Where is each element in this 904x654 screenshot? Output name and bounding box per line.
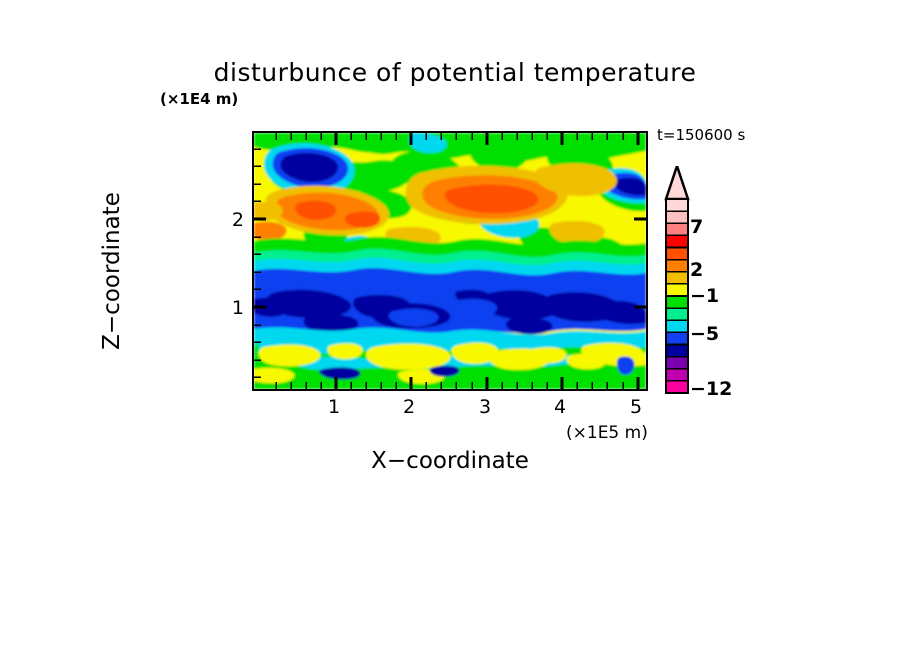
xtick-label-5: 5	[623, 396, 649, 418]
colorbar-band-red	[666, 235, 688, 247]
colorbar-band-dark-orange	[666, 248, 688, 260]
colorbar-band-magenta-purple	[666, 369, 688, 381]
ytick-label-1: 1	[218, 297, 244, 319]
colorbar-band-salmon	[666, 223, 688, 235]
colorbar-band-pale-pink	[666, 199, 688, 211]
xtick-label-2: 2	[396, 396, 422, 418]
page-title: disturbunce of potential temperature	[170, 58, 740, 87]
colorbar-band-yellow	[666, 284, 688, 296]
colorbar-band-blue	[666, 332, 688, 344]
colorbar-band-spring-green	[666, 308, 688, 320]
figure-canvas: disturbunce of potential temperature (×1…	[0, 0, 904, 654]
colorbar-band-cyan	[666, 320, 688, 332]
y-axis-unit-label: (×1E4 m)	[160, 90, 238, 108]
x-axis-unit-label: (×1E5 m)	[566, 423, 648, 443]
colorbar-band-navy	[666, 345, 688, 357]
ytick-label-2: 2	[218, 209, 244, 231]
colorbar-label-m1: −1	[690, 285, 719, 307]
colorbar-band-purple	[666, 357, 688, 369]
colorbar-label-2: 2	[690, 259, 703, 281]
time-annotation: t=150600 s	[657, 126, 745, 144]
colorbar-band-light-pink	[666, 211, 688, 223]
xtick-label-1: 1	[321, 396, 347, 418]
colorbar-label-m5: −5	[690, 323, 719, 345]
y-axis-title: Z−coordinate	[99, 141, 125, 401]
colorbar	[663, 166, 697, 398]
colorbar-swatches	[663, 166, 697, 398]
colorbar-arrow-tip	[666, 166, 688, 199]
contour-plot-area	[252, 131, 648, 391]
colorbar-label-7: 7	[690, 216, 703, 238]
colorbar-band-gold	[666, 272, 688, 284]
x-axis-title: X−coordinate	[250, 448, 650, 474]
xtick-label-3: 3	[472, 396, 498, 418]
colorbar-band-magenta	[666, 381, 688, 393]
colorbar-label-m12: −12	[690, 378, 732, 400]
colorbar-band-orange	[666, 260, 688, 272]
xtick-label-4: 4	[547, 396, 573, 418]
contour-field	[254, 133, 646, 389]
colorbar-band-green	[666, 296, 688, 308]
